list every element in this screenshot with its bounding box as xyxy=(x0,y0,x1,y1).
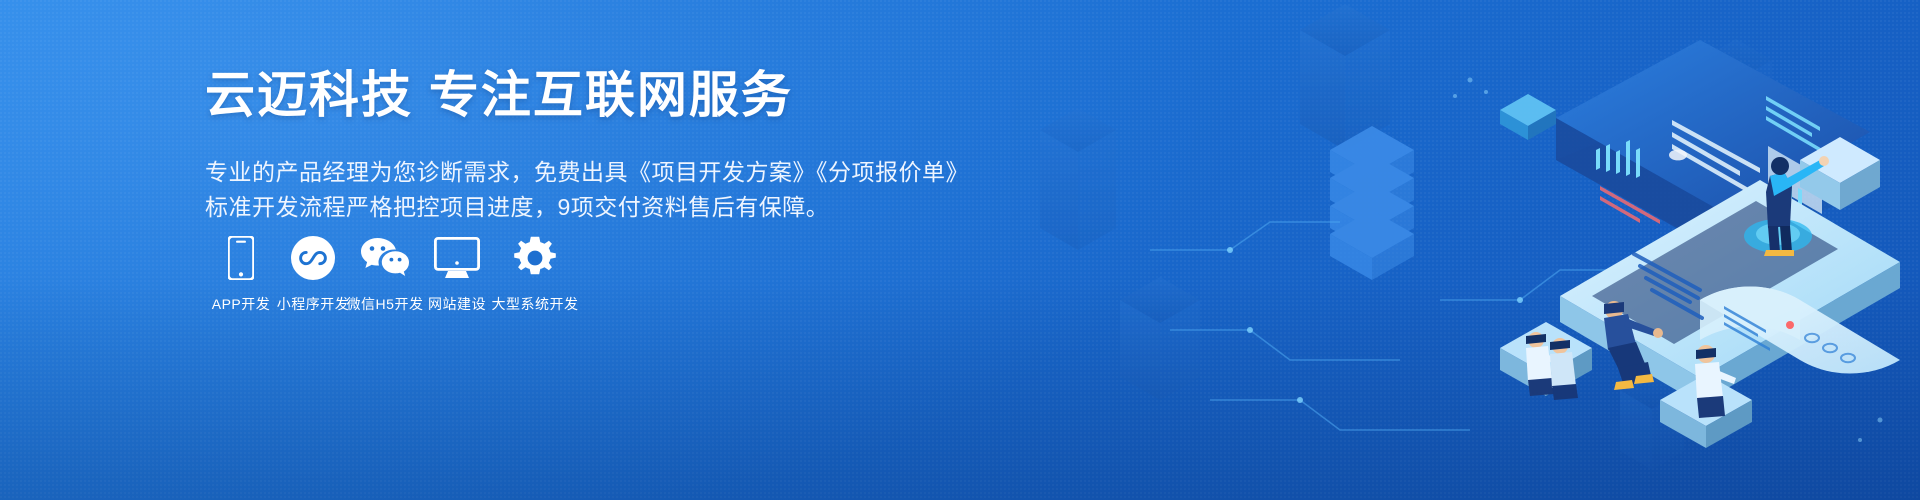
hero-illustration xyxy=(1000,0,1920,500)
service-item-large-system[interactable]: 大型系统开发 xyxy=(493,232,577,314)
gear-icon xyxy=(513,232,557,284)
service-label-website: 网站建设 xyxy=(428,294,486,314)
server-stack xyxy=(1330,126,1414,280)
mobile-phone-icon xyxy=(228,232,254,284)
monitor-icon xyxy=(434,232,480,284)
page-title: 云迈科技 专注互联网服务 xyxy=(205,68,905,123)
subtitle-line-1: 专业的产品经理为您诊断需求，免费出具《项目开发方案》《分项报价单》 xyxy=(205,155,905,190)
service-label-wechat-h5: 微信H5开发 xyxy=(347,294,424,314)
wechat-icon xyxy=(360,232,410,284)
service-label-large-system: 大型系统开发 xyxy=(492,294,579,314)
subtitle-line-2: 标准开发流程严格把控项目进度，9项交付资料售后有保障。 xyxy=(205,190,905,225)
mini-program-icon xyxy=(291,232,335,284)
floating-card xyxy=(1500,94,1556,140)
service-label-app: APP开发 xyxy=(212,294,271,314)
service-item-website[interactable]: 网站建设 xyxy=(421,232,493,314)
service-item-mini-program[interactable]: 小程序开发 xyxy=(277,232,349,314)
hero-banner: 云迈科技 专注互联网服务 专业的产品经理为您诊断需求，免费出具《项目开发方案》《… xyxy=(0,0,1920,500)
service-list: APP开发 小程序开发 微信 xyxy=(205,232,577,314)
service-item-wechat-h5[interactable]: 微信H5开发 xyxy=(349,232,421,314)
hero-copy: 云迈科技 专注互联网服务 专业的产品经理为您诊断需求，免费出具《项目开发方案》《… xyxy=(205,68,905,225)
service-item-app[interactable]: APP开发 xyxy=(205,232,277,314)
service-label-mini-program: 小程序开发 xyxy=(277,294,350,314)
